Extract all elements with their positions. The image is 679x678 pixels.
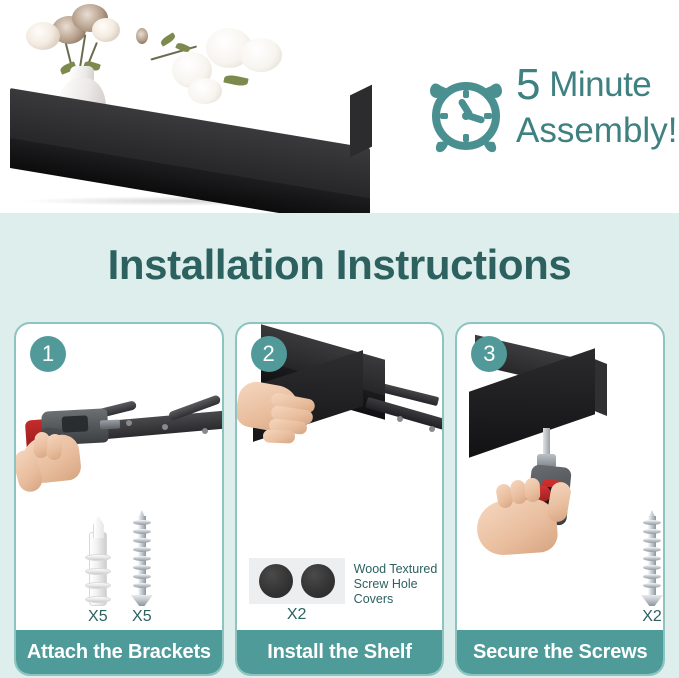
screw-hole-covers-label: Wood Textured Screw Hole Covers	[354, 558, 438, 607]
flower-bloom	[26, 22, 60, 50]
screw-head	[131, 595, 153, 606]
screw-thread	[133, 529, 151, 534]
screw-icon	[641, 510, 663, 606]
orchid-bloom	[188, 78, 222, 104]
screw-thread	[643, 583, 661, 588]
screw-thread	[133, 556, 151, 561]
screw-thread	[643, 565, 661, 570]
screw-thread	[643, 556, 661, 561]
screw-thread	[643, 538, 661, 543]
step-1-parts: X5	[16, 510, 222, 626]
screw-thread	[133, 520, 151, 525]
step-card-1: 1	[14, 322, 224, 676]
orchid-bloom	[240, 38, 282, 72]
part-quantity: X5	[132, 608, 152, 626]
step-3-footer-label: Secure the Screws	[457, 630, 663, 674]
part-screw: X5	[131, 510, 153, 626]
part-wall-anchor: X5	[85, 514, 111, 626]
step-card-3: 3	[455, 322, 665, 676]
anchor-thread	[85, 554, 111, 561]
assembly-minute-word: Minute	[549, 65, 651, 104]
instructions-panel: Installation Instructions 1	[0, 213, 679, 678]
orchid-bud	[136, 28, 148, 44]
step-1-footer-label: Attach the Brackets	[16, 630, 222, 674]
shelf-shadow	[20, 196, 360, 206]
bracket-screw-hole	[429, 426, 435, 432]
part-quantity: X2	[287, 606, 307, 624]
assembly-word: Assembly!	[516, 108, 677, 154]
part-quantity: X5	[88, 608, 108, 626]
step-number-badge-1: 1	[30, 336, 66, 372]
shelf-side-face	[350, 85, 372, 158]
screw-thread	[133, 583, 151, 588]
alarm-clock-icon	[424, 70, 508, 154]
screw-icon	[131, 510, 153, 606]
hand-finger	[525, 478, 541, 503]
hand-thumb	[262, 429, 294, 443]
step-number-badge-2: 2	[251, 336, 287, 372]
hand-finger	[46, 434, 63, 461]
screw-thread	[133, 538, 151, 543]
screw-hole-covers-swatch	[249, 558, 345, 604]
step-1-body: 1	[16, 324, 222, 630]
step-2-body: 2	[237, 324, 443, 630]
assembly-time-badge: 5 Minute Assembly!	[424, 62, 664, 162]
wall-anchor-icon	[85, 514, 111, 606]
screw-thread	[133, 547, 151, 552]
screw-thread	[133, 565, 151, 570]
bracket-screw-hole	[202, 428, 208, 434]
part-screw-hole-covers: X2	[249, 558, 345, 624]
cover-dot-icon	[259, 564, 293, 598]
part-quantity: X2	[642, 608, 662, 626]
flower-bloom	[92, 18, 120, 42]
step-2-footer-label: Install the Shelf	[237, 630, 443, 674]
anchor-thread	[85, 596, 111, 603]
anchor-tip	[93, 516, 104, 538]
screw-thread	[643, 520, 661, 525]
drill-chuck	[100, 419, 120, 429]
orchid-leaf	[223, 74, 248, 88]
screw-thread	[133, 574, 151, 579]
bracket-screw-hole	[397, 416, 403, 422]
step-3-body: 3	[457, 324, 663, 630]
bracket-screw-hole	[126, 420, 132, 426]
step-3-parts: X2	[457, 510, 663, 626]
screw-thread	[643, 547, 661, 552]
assembly-minutes-number: 5	[516, 60, 540, 109]
anchor-thread	[85, 582, 111, 589]
anchor-thread	[85, 568, 111, 575]
cover-dot-icon	[301, 564, 335, 598]
infographic-page: 5 Minute Assembly! Installation Instruct…	[0, 0, 679, 678]
screw-thread	[643, 574, 661, 579]
steps-container: 1	[14, 322, 665, 676]
step-2-parts: X2 Wood Textured Screw Hole Covers	[249, 558, 438, 624]
assembly-badge-text: 5 Minute Assembly!	[516, 62, 677, 154]
screw-head	[641, 595, 663, 606]
step-card-2: 2	[235, 322, 445, 676]
part-screw: X2	[641, 510, 663, 626]
drill-vent	[62, 415, 89, 432]
product-photo-floating-shelf	[0, 0, 400, 213]
screw-thread	[643, 529, 661, 534]
orchid-leaf	[159, 32, 176, 46]
page-title: Installation Instructions	[0, 241, 679, 289]
hero-section: 5 Minute Assembly!	[0, 0, 679, 213]
bracket-screw-hole	[162, 424, 168, 430]
